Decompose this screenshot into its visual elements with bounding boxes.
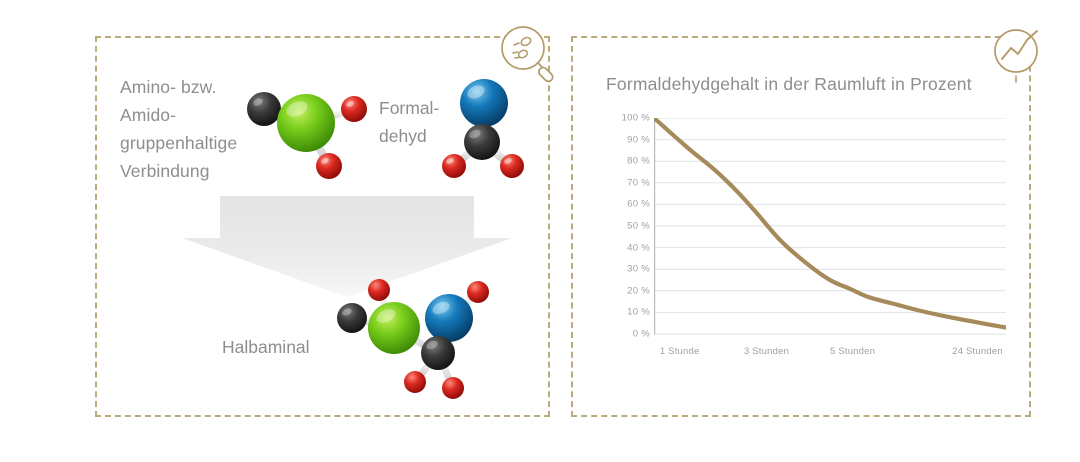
product-label: Halbaminal [222, 337, 310, 358]
y-axis-tick: 20 % [604, 285, 650, 296]
x-axis-tick: 3 Stunden [744, 346, 789, 357]
y-axis-tick: 60 % [604, 199, 650, 210]
molecule-amine [236, 76, 386, 191]
y-axis-tick: 70 % [604, 177, 650, 188]
x-axis-tick: 24 Stunden [952, 346, 1003, 357]
y-axis-tick: 40 % [604, 242, 650, 253]
y-axis-tick: 30 % [604, 264, 650, 275]
x-axis-tick: 1 Stunde [660, 346, 700, 357]
plot-area: 1 Stunde3 Stunden5 Stunden24 Stunden [654, 118, 1006, 334]
infographic-canvas: Amino- bzw. Amido- gruppenhaltige Verbin… [0, 0, 1080, 462]
chart: 100 %90 %80 %70 %60 %50 %40 %30 %20 %10 … [598, 118, 1018, 378]
y-axis-tick: 100 % [604, 113, 650, 124]
trend-chart-circle-icon [987, 20, 1051, 84]
y-axis-tick: 80 % [604, 156, 650, 167]
y-axis-tick: 10 % [604, 307, 650, 318]
molecule-halbaminal [322, 270, 507, 405]
molecule-formaldehyde [432, 70, 542, 190]
x-axis-tick: 5 Stunden [830, 346, 875, 357]
series-line [654, 118, 1006, 328]
chart-title: Formaldehydgehalt in der Raumluft in Pro… [606, 74, 972, 95]
y-axis-tick: 90 % [604, 134, 650, 145]
y-axis-tick: 0 % [604, 329, 650, 340]
y-axis-tick: 50 % [604, 221, 650, 232]
y-axis: 100 %90 %80 %70 %60 %50 %40 %30 %20 %10 … [598, 118, 650, 334]
chart-svg [654, 118, 1006, 380]
